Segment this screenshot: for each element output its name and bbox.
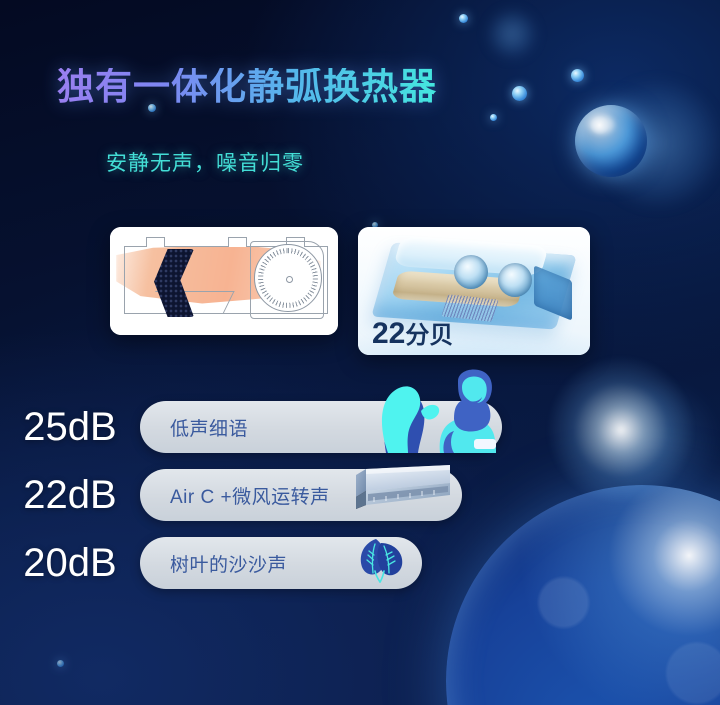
noise-row-db: 25dB bbox=[0, 407, 140, 447]
noise-row: 20dB 树叶的沙沙声 bbox=[0, 532, 720, 594]
star-dot-icon bbox=[592, 78, 720, 210]
noise-row-db: 22dB bbox=[0, 475, 140, 515]
star-dot-icon bbox=[486, 8, 538, 60]
heat-exchanger-cutaway-card bbox=[110, 227, 338, 335]
noise-row-db: 20dB bbox=[0, 543, 140, 583]
ducted-ac-unit-icon bbox=[354, 461, 458, 519]
heat-exchanger-cutaway-icon bbox=[110, 227, 338, 335]
air-port-icon bbox=[454, 255, 488, 289]
page-subtitle: 安静无声，噪音归零 bbox=[106, 153, 304, 174]
noise-row-pill[interactable]: 树叶的沙沙声 bbox=[140, 537, 422, 589]
air-port-icon bbox=[498, 263, 532, 297]
fan-wheel-icon bbox=[254, 244, 322, 312]
star-dot-icon bbox=[459, 14, 468, 23]
noise-row-pill[interactable]: 低声细语 bbox=[140, 401, 502, 453]
decibel-caption: 22分贝 bbox=[372, 319, 453, 349]
casing-notch bbox=[146, 237, 165, 247]
glass-bubble-icon bbox=[575, 105, 647, 177]
promo-poster: 独有一体化静弧换热器 安静无声，噪音归零 22分 bbox=[0, 0, 720, 705]
star-dot-icon bbox=[490, 114, 497, 121]
leaves-icon bbox=[350, 535, 408, 583]
noise-row-label: Air C +微风运转声 bbox=[140, 482, 330, 509]
noise-row-label: 低声细语 bbox=[140, 414, 248, 441]
indoor-unit-render-card: 22分贝 bbox=[358, 227, 590, 355]
star-dot-icon bbox=[571, 69, 584, 82]
page-title: 独有一体化静弧换热器 bbox=[57, 68, 437, 105]
decibel-caption-value: 22 bbox=[372, 317, 405, 350]
casing-notch bbox=[228, 237, 247, 247]
noise-comparison-list: 25dB 低声细语 bbox=[0, 396, 720, 600]
star-dot-icon bbox=[512, 86, 527, 101]
noise-row: 25dB 低声细语 bbox=[0, 396, 720, 458]
star-dot-icon bbox=[57, 660, 64, 667]
noise-row-label: 树叶的沙沙声 bbox=[140, 550, 287, 577]
decibel-caption-unit: 分贝 bbox=[405, 322, 453, 349]
whispering-couple-icon bbox=[358, 369, 508, 453]
noise-row: 22dB Air C +微风运转声 bbox=[0, 464, 720, 526]
noise-row-pill[interactable]: Air C +微风运转声 bbox=[140, 469, 462, 521]
